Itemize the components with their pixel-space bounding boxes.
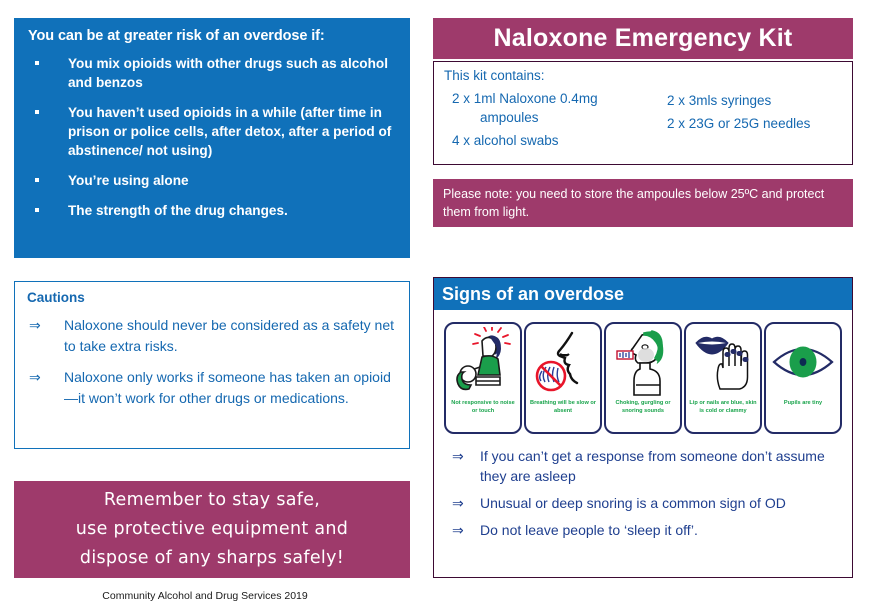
kit-item-line-continued: ampoules [452,108,657,127]
kit-contents-left-column: 2 x 1ml Naloxone 0.4mg ampoules 4 x alco… [442,89,657,154]
cautions-panel: Cautions Naloxone should never be consid… [14,281,410,449]
choking-snoring-icon [606,324,680,400]
unresponsive-person-icon [446,324,520,400]
kit-contents-right-column: 2 x 3mls syringes 2 x 23G or 25G needles [657,89,844,154]
remember-line: use protective equipment and [76,515,348,544]
remember-line: Remember to stay safe, [104,486,320,515]
sign-card-pupils: Pupils are tiny [764,322,842,434]
remember-safety-panel: Remember to stay safe, use protective eq… [14,481,410,578]
sign-caption: Pupils are tiny [782,400,824,408]
slow-breathing-icon [526,324,600,400]
list-item: You haven’t used opioids in a while (aft… [28,103,396,160]
kit-item-line: 4 x alcohol swabs [452,133,559,148]
sign-card-blue-lips: Lip or nails are blue, skin is cold or c… [684,322,762,434]
storage-note-panel: Please note: you need to store the ampou… [433,179,853,227]
tiny-pupils-eye-icon [766,324,840,400]
list-item: The strength of the drug changes. [28,201,396,220]
cautions-title: Cautions [27,290,397,305]
signs-bullet-list: If you can’t get a response from someone… [438,446,842,540]
sign-caption: Not responsive to noise or touch [446,400,520,415]
kit-item: 2 x 23G or 25G needles [657,114,844,133]
naloxone-kit-title: Naloxone Emergency Kit [433,18,853,59]
sign-card-choking: Choking, gurgling or snoring sounds [604,322,682,434]
kit-item: 4 x alcohol swabs [442,131,657,150]
kit-item: 2 x 1ml Naloxone 0.4mg ampoules [442,89,657,127]
sign-caption: Lip or nails are blue, skin is cold or c… [686,400,760,415]
sign-caption: Choking, gurgling or snoring sounds [606,400,680,415]
kit-contents-panel: This kit contains: 2 x 1ml Naloxone 0.4m… [433,61,853,165]
sign-caption: Breathing will be slow or absent [526,400,600,415]
signs-of-overdose-panel: Signs of an overdose [433,277,853,578]
overdose-risk-title: You can be at greater risk of an overdos… [28,28,396,44]
list-item: If you can’t get a response from someone… [438,446,842,486]
kit-item: 2 x 3mls syringes [657,91,844,110]
list-item: Naloxone should never be considered as a… [27,315,397,357]
signs-bullet-list-wrap: If you can’t get a response from someone… [434,440,852,540]
footer-credit: Community Alcohol and Drug Services 2019 [0,590,410,602]
sign-card-unresponsive: Not responsive to noise or touch [444,322,522,434]
remember-line: dispose of any sharps safely! [80,544,344,573]
kit-intro-text: This kit contains: [444,68,844,83]
signs-icon-row: Not responsive to noise or touch [434,310,852,440]
signs-of-overdose-title: Signs of an overdose [434,278,852,310]
blue-lips-nails-icon [686,324,760,400]
list-item: Naloxone only works if someone has taken… [27,367,397,409]
list-item: Unusual or deep snoring is a common sign… [438,493,842,513]
list-item: You mix opioids with other drugs such as… [28,54,396,92]
list-item: You’re using alone [28,171,396,190]
overdose-risk-panel: You can be at greater risk of an overdos… [14,18,410,258]
kit-item-line: 2 x 1ml Naloxone 0.4mg [452,91,598,106]
sign-card-breathing: Breathing will be slow or absent [524,322,602,434]
cautions-list: Naloxone should never be considered as a… [27,315,397,409]
overdose-risk-list: You mix opioids with other drugs such as… [28,54,396,220]
list-item: Do not leave people to ‘sleep it off’. [438,520,842,540]
